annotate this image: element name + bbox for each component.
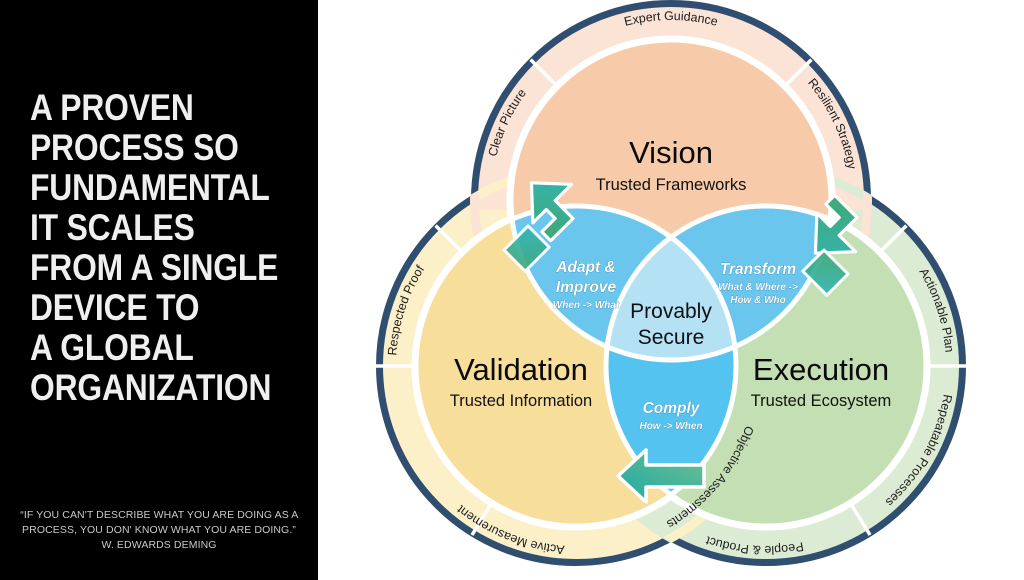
adapt-improve-sub: When -> What bbox=[553, 300, 620, 311]
execution-title: Execution bbox=[753, 352, 889, 387]
headline-line-3: FUNDAMENTAL bbox=[30, 168, 264, 208]
venn-diagram: Clear Picture Expert Guidance Resilient … bbox=[318, 0, 1024, 580]
quote-line-2: PROCESS, YOU DON' KNOW WHAT YOU ARE DOIN… bbox=[22, 524, 296, 536]
slide-root: A PROVEN PROCESS SO FUNDAMENTAL IT SCALE… bbox=[0, 0, 1024, 580]
headline-line-8: ORGANIZATION bbox=[30, 368, 264, 408]
headline-line-7: A GLOBAL bbox=[30, 328, 264, 368]
label-comply: Comply How -> When bbox=[639, 400, 702, 432]
comply-line1: Comply bbox=[643, 400, 701, 417]
transform-sub-line1: What & Where -> bbox=[718, 282, 798, 293]
page-title: A PROVEN PROCESS SO FUNDAMENTAL IT SCALE… bbox=[30, 88, 264, 408]
transform-sub-line2: How & Who bbox=[730, 295, 786, 306]
execution-subtitle: Trusted Ecosystem bbox=[751, 392, 892, 410]
label-adapt-improve: Adapt & Improve When -> What bbox=[553, 259, 620, 311]
validation-subtitle: Trusted Information bbox=[450, 392, 592, 410]
adapt-improve-line2: Improve bbox=[556, 279, 617, 296]
quote-line-1: “IF YOU CAN'T DESCRIBE WHAT YOU ARE DOIN… bbox=[20, 509, 298, 521]
circle-label-execution: Execution Trusted Ecosystem bbox=[751, 352, 892, 410]
diagram-panel: Clear Picture Expert Guidance Resilient … bbox=[318, 0, 1024, 580]
adapt-improve-line1: Adapt & bbox=[555, 259, 615, 276]
vision-subtitle: Trusted Frameworks bbox=[596, 176, 747, 194]
headline-line-6: DEVICE TO bbox=[30, 288, 264, 328]
headline-line-5: FROM A SINGLE bbox=[30, 248, 264, 288]
circle-label-validation: Validation Trusted Information bbox=[450, 352, 592, 410]
quote-block: “IF YOU CAN'T DESCRIBE WHAT YOU ARE DOIN… bbox=[8, 508, 310, 554]
quote-attribution: W. EDWARDS DEMING bbox=[8, 538, 310, 553]
center-line2: Secure bbox=[638, 326, 705, 349]
validation-title: Validation bbox=[454, 352, 588, 387]
headline-line-2: PROCESS SO bbox=[30, 128, 264, 168]
center-line1: Provably bbox=[630, 300, 712, 323]
headline-line-4: IT SCALES bbox=[30, 208, 264, 248]
headline-line-1: A PROVEN bbox=[30, 88, 264, 128]
transform-line1: Transform bbox=[720, 261, 797, 278]
vision-title: Vision bbox=[629, 135, 713, 170]
left-text-panel: A PROVEN PROCESS SO FUNDAMENTAL IT SCALE… bbox=[0, 0, 318, 580]
comply-sub: How -> When bbox=[639, 421, 702, 432]
